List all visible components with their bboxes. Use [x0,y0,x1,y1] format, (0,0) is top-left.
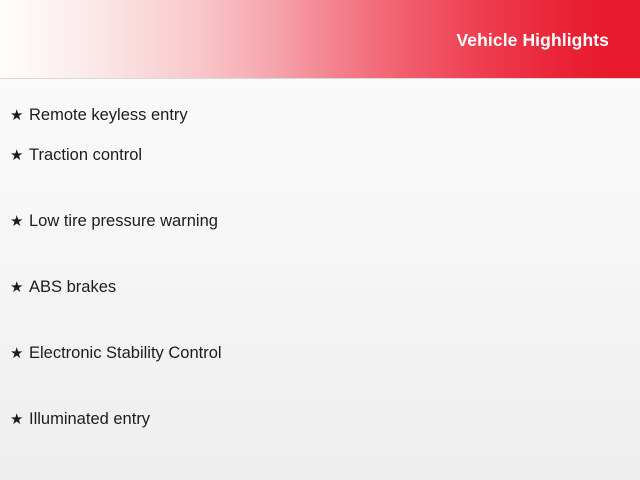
highlight-label: Remote keyless entry [29,105,188,126]
list-item: ★ Remote keyless entry [0,79,640,145]
star-icon: ★ [10,105,29,126]
highlight-label: Illuminated entry [29,409,150,430]
list-item: ★ Illuminated entry [0,409,640,475]
list-item: ★ Low tire pressure warning [0,211,640,277]
vehicle-highlights-list: ★ Remote keyless entry ★ Traction contro… [0,79,640,475]
list-item: ★ Traction control [0,145,640,211]
vehicle-highlights-panel: Vehicle Highlights ★ Remote keyless entr… [0,0,640,480]
highlight-label: Traction control [29,145,142,166]
star-icon: ★ [10,409,29,430]
page-title: Vehicle Highlights [456,29,609,51]
star-icon: ★ [10,211,29,232]
star-icon: ★ [10,145,29,166]
highlight-label: Electronic Stability Control [29,343,222,364]
list-item: ★ ABS brakes [0,277,640,343]
list-item: ★ Electronic Stability Control [0,343,640,409]
star-icon: ★ [10,343,29,364]
highlight-label: Low tire pressure warning [29,211,218,232]
header-banner: Vehicle Highlights [0,0,640,79]
highlight-label: ABS brakes [29,277,116,298]
star-icon: ★ [10,277,29,298]
